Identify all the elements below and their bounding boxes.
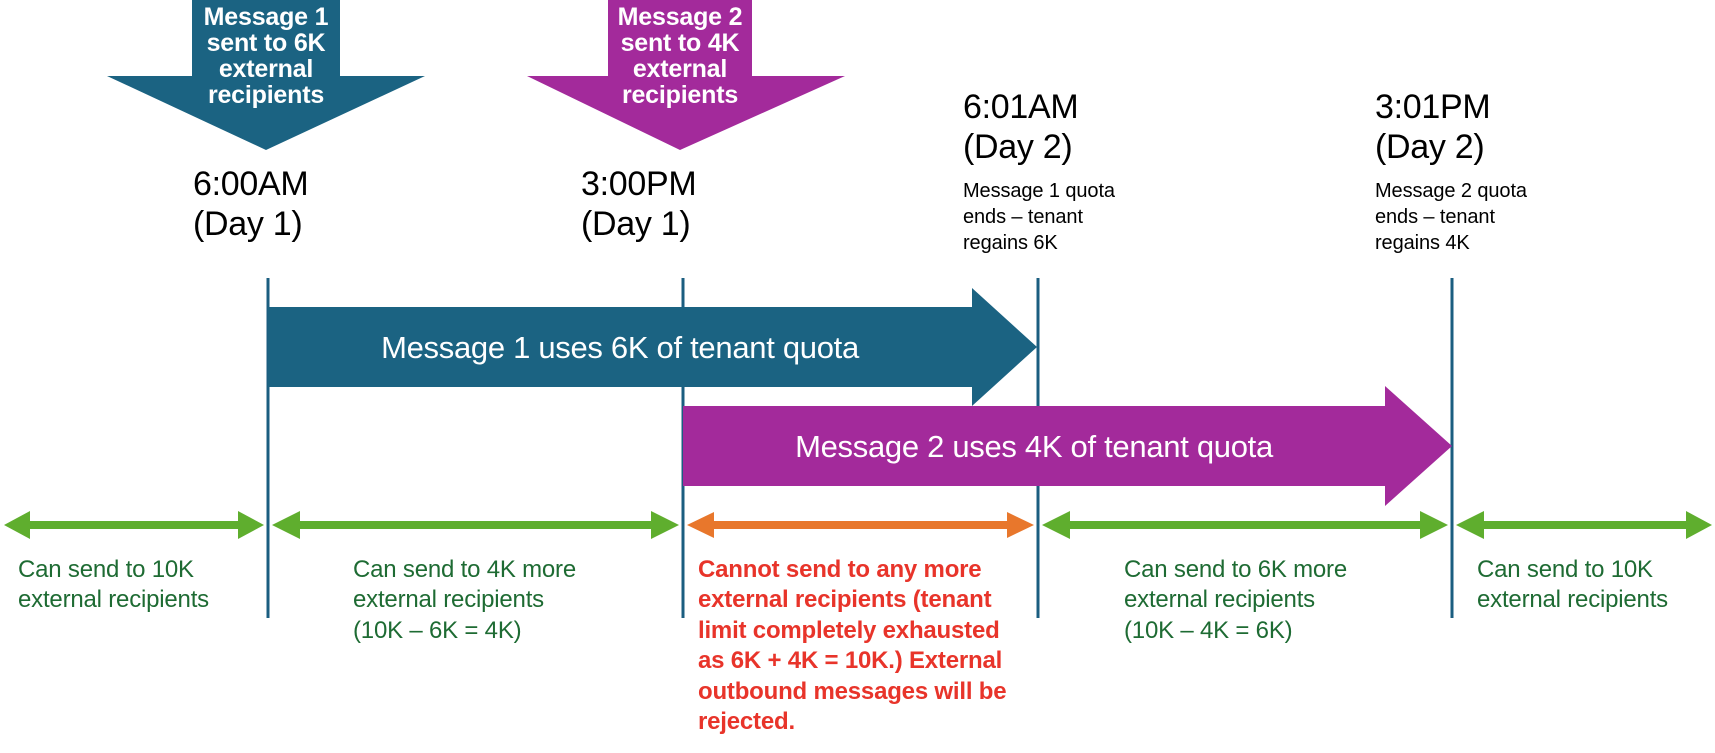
marker-4-detail: Message 2 quota ends – tenant regains 4K [1375, 178, 1590, 256]
marker-4-day: (Day 2) [1375, 127, 1615, 167]
marker-1-day: (Day 1) [193, 204, 423, 244]
capacity-segment-4-text: Can send to 6K more external recipients … [1124, 555, 1424, 646]
diagram-canvas: Message 1 sent to 6K external recipients… [0, 0, 1715, 753]
marker-3-day: (Day 2) [963, 127, 1203, 167]
capacity-arrow-segment-2 [272, 511, 679, 539]
marker-2-time: 3:00PM [581, 164, 811, 204]
capacity-segment-3-text: Cannot send to any more external recipie… [698, 555, 1028, 738]
marker-3-detail: Message 1 quota ends – tenant regains 6K [963, 178, 1178, 256]
down-arrow-message-1-label: Message 1 sent to 6K external recipients [170, 4, 362, 108]
capacity-arrow-segment-3 [687, 512, 1034, 538]
capacity-segment-1-text: Can send to 10K external recipients [18, 555, 258, 616]
marker-4-time: 3:01PM [1375, 87, 1615, 127]
capacity-segment-5-text: Can send to 10K external recipients [1477, 555, 1715, 616]
marker-1-time: 6:00AM [193, 164, 423, 204]
capacity-arrow-segment-1 [4, 511, 264, 539]
marker-3-time: 6:01AM [963, 87, 1203, 127]
quota-bar-message-1-label: Message 1 uses 6K of tenant quota [268, 330, 972, 366]
capacity-arrow-segment-4 [1042, 511, 1448, 539]
capacity-arrow-segment-5 [1456, 511, 1712, 539]
quota-bar-message-2-label: Message 2 uses 4K of tenant quota [683, 429, 1385, 465]
down-arrow-message-2-label: Message 2 sent to 4K external recipients [584, 4, 776, 108]
marker-2-day: (Day 1) [581, 204, 811, 244]
capacity-segment-2-text: Can send to 4K more external recipients … [353, 555, 653, 646]
